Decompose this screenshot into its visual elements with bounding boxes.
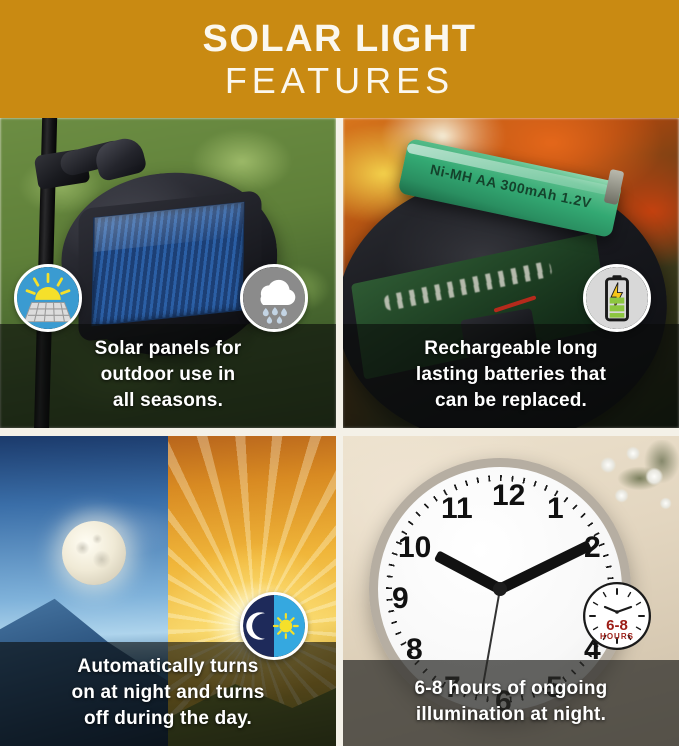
feature-panel-runtime[interactable]: 12 1 2 3 4 5 6 7 8 9 10 11 [343, 436, 679, 746]
full-moon [62, 521, 126, 585]
panel-caption-rechargeable-batteries: Rechargeable long lasting batteries that… [343, 324, 679, 428]
hours-clock-icon: 6-8 HOURS [583, 582, 651, 650]
clock-number-9: 9 [392, 582, 409, 616]
page-header: SOLAR LIGHT FEATURES [0, 0, 679, 118]
rain-cloud-icon [240, 264, 308, 332]
battery-charge-icon [583, 264, 651, 332]
clock-number-11: 11 [441, 492, 473, 526]
panel-caption-runtime: 6-8 hours of ongoing illumination at nig… [343, 660, 679, 746]
feature-grid: Solar panels for outdoor use in all seas… [0, 118, 679, 746]
feature-panel-solar-panels[interactable]: Solar panels for outdoor use in all seas… [0, 118, 336, 428]
clock-number-10: 10 [398, 531, 431, 565]
clock-center-cap [493, 582, 507, 596]
feature-panel-rechargeable-batteries[interactable]: Ni-MH AA 300mAh 1.2V Rechargeable long l… [343, 118, 679, 428]
page-title-line1: SOLAR LIGHT [202, 18, 476, 60]
panel-caption-solar-panels: Solar panels for outdoor use in all seas… [0, 324, 336, 428]
hours-unit-text: HOURS [600, 632, 634, 641]
clock-number-1: 1 [547, 492, 564, 526]
feature-panel-dusk-to-dawn[interactable]: Automatically turns on at night and turn… [0, 436, 336, 746]
clock-number-12: 12 [492, 479, 525, 513]
page-title-line2: FEATURES [225, 61, 454, 101]
solar-panel-icon [14, 264, 82, 332]
day-night-icon [240, 592, 308, 660]
